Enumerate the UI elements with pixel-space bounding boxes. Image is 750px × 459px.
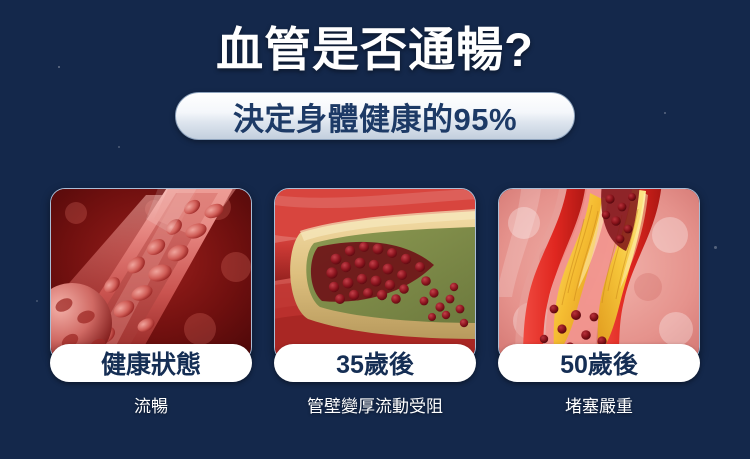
card-label-text: 35歲後 <box>336 345 414 381</box>
sparkle-dot <box>36 300 38 302</box>
card-caption-age50: 堵塞嚴重 <box>498 392 700 418</box>
narrowed-artery-plaque-illustration <box>275 189 475 361</box>
card-label-text: 健康狀態 <box>101 345 201 381</box>
sparkle-dot <box>664 112 666 114</box>
healthy-blood-vessel-illustration <box>51 189 251 361</box>
card-caption-age35: 管壁變厚流動受阻 <box>274 392 476 418</box>
card-image-healthy[interactable] <box>50 188 252 362</box>
card-image-row <box>50 188 700 360</box>
card-label-age35[interactable]: 35歲後 <box>274 344 476 382</box>
card-label-text: 50歲後 <box>560 345 638 381</box>
infographic-stage: 血管是否通暢? 決定身體健康的95% <box>0 0 750 459</box>
card-caption-healthy: 流暢 <box>50 392 252 418</box>
sparkle-dot <box>118 146 120 148</box>
sparkle-dot <box>714 246 717 249</box>
subtitle-text: 決定身體健康的95% <box>233 94 517 139</box>
subtitle-pill: 決定身體健康的95% <box>175 92 575 140</box>
card-image-narrowed[interactable] <box>274 188 476 362</box>
page-title: 血管是否通暢? <box>0 21 750 79</box>
card-caption-row: 流暢 管壁變厚流動受阻 堵塞嚴重 <box>50 392 700 418</box>
card-label-age50[interactable]: 50歲後 <box>498 344 700 382</box>
card-label-healthy[interactable]: 健康狀態 <box>50 344 252 382</box>
card-label-row: 健康狀態 35歲後 50歲後 <box>50 344 700 382</box>
card-image-blocked[interactable] <box>498 188 700 362</box>
blocked-artery-cholesterol-illustration <box>499 189 699 361</box>
